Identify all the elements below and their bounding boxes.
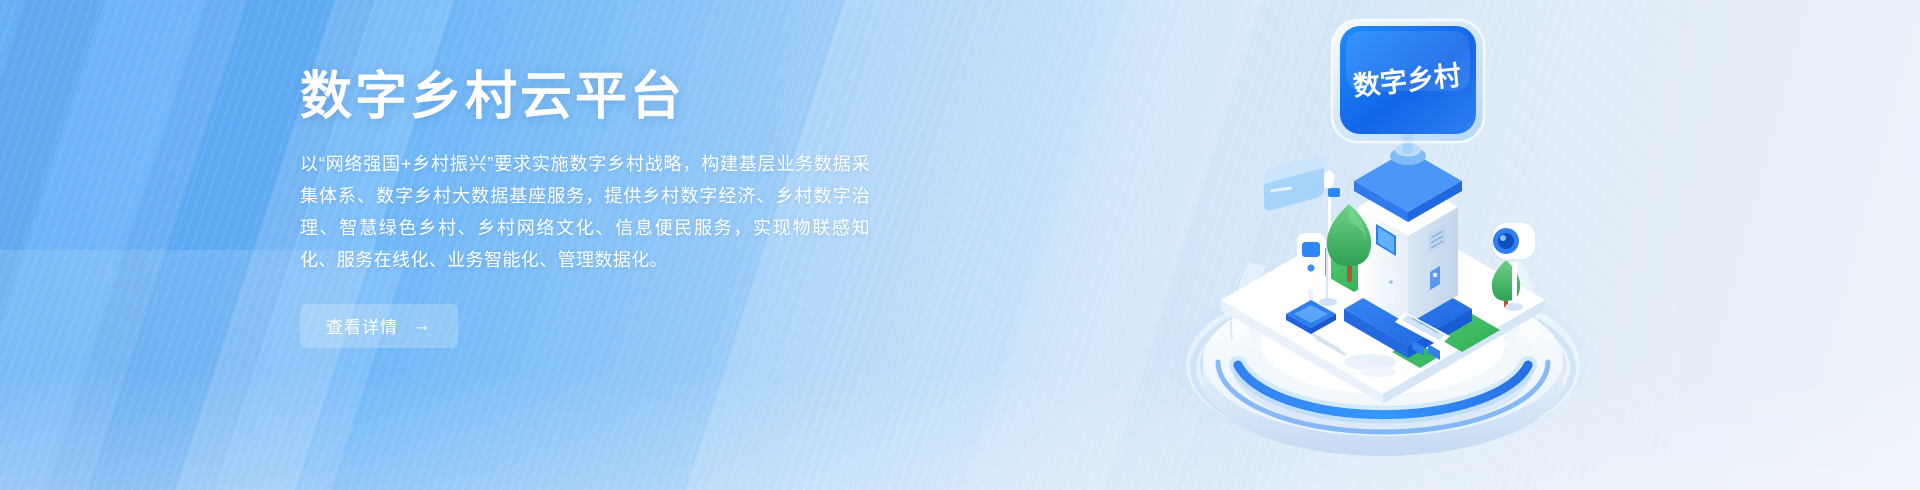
hero-banner: 数字乡村云平台 以“网络强国+乡村振兴”要求实施数字乡村战略，构建基层业务数据采… bbox=[0, 0, 1920, 490]
background-shard bbox=[0, 0, 283, 490]
floating-card bbox=[1264, 156, 1324, 211]
page-title: 数字乡村云平台 bbox=[300, 68, 900, 128]
hero-content: 数字乡村云平台 以“网络强国+乡村振兴”要求实施数字乡村战略，构建基层业务数据采… bbox=[300, 68, 900, 348]
view-details-label: 查看详情 bbox=[326, 313, 398, 338]
arrow-right-icon: → bbox=[412, 316, 432, 335]
background-bottom-fade bbox=[0, 370, 1920, 490]
hero-description: 以“网络强国+乡村振兴”要求实施数字乡村战略，构建基层业务数据采集体系、数字乡村… bbox=[300, 148, 870, 276]
billboard-screen: 数字乡村 bbox=[1332, 20, 1484, 142]
background-decoration bbox=[0, 0, 1920, 490]
digital-village-illustration: 数字乡村 bbox=[1140, 10, 1610, 480]
view-details-button[interactable]: 查看详情 → bbox=[300, 304, 458, 348]
background-shard bbox=[0, 0, 156, 490]
